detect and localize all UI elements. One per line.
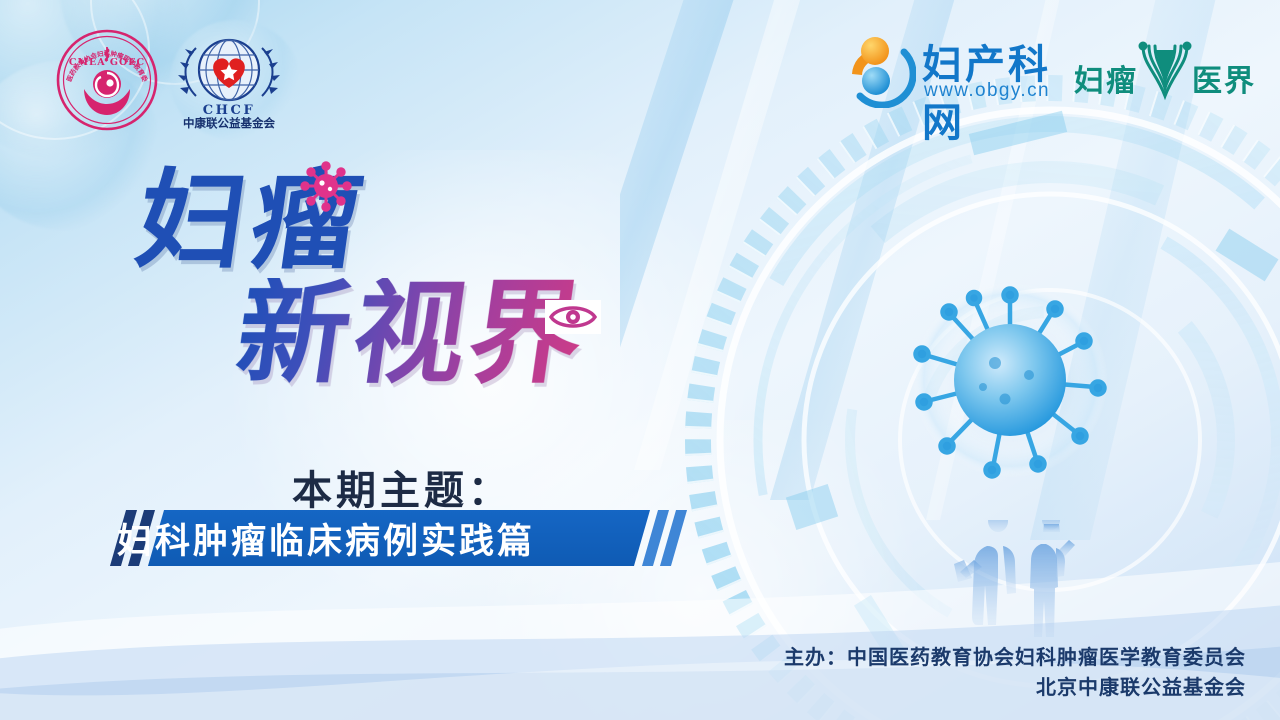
organizer-line-1: 主办：中国医药教育协会妇科肿瘤医学教育委员会 [784,642,1246,672]
topic-label: 本期主题： [292,458,512,516]
doctor-silhouettes [940,520,1090,645]
chcf-logo: CHCF 中康联公益基金会 [170,26,288,131]
topic-text: 妇科肿瘤临床病例实践篇 [56,510,596,566]
obgy-logo[interactable]: 妇产科网 www.obgy.cn [842,30,1054,112]
chcf-chinese: 中康联公益基金会 [183,116,275,130]
cmea-goec-logo: 中国医药教育协会妇科肿瘤医学教育委员会 CMEA GOEC [56,29,158,131]
uterus-icon [1134,34,1196,106]
eye-icon [545,300,601,334]
fuliu-left-text: 妇瘤 [1074,56,1138,100]
fuliu-yijie-logo[interactable]: 妇瘤 医界 [1074,42,1264,110]
title-line-2-text: 新视界 [230,278,594,390]
title-line-2: 新视界 [238,278,586,400]
virus-icon [300,160,352,212]
poster-canvas: 中国医药教育协会妇科肿瘤医学教育委员会 CMEA GOEC [0,0,1280,720]
fuliu-right-text: 医界 [1192,56,1256,100]
organizer-info: 主办：中国医药教育协会妇科肿瘤医学教育委员会 北京中康联公益基金会 [784,642,1246,702]
organizer-line-2: 北京中康联公益基金会 [784,672,1246,702]
obgy-url: www.obgy.cn [924,80,1050,102]
virus-cell-graphic [905,275,1115,485]
obgy-mark-icon [842,34,916,108]
